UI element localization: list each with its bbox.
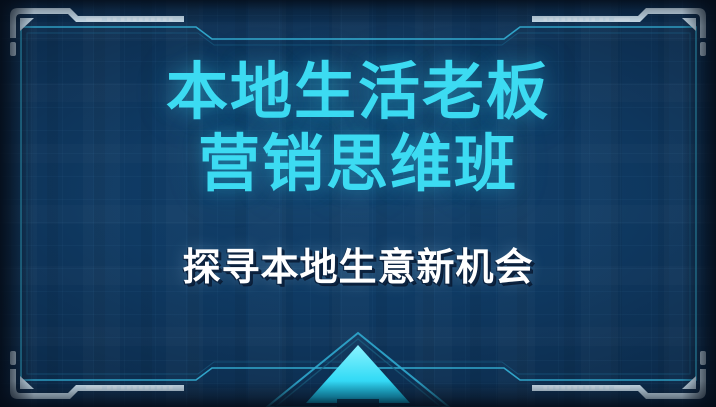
subtitle: 探寻本地生意新机会 [182, 244, 533, 290]
corner-bracket-top-left [8, 4, 188, 66]
title-line-2: 营销思维班 [198, 128, 518, 200]
arrow-up-triangle-icon [263, 329, 453, 407]
corner-bracket-top-right [528, 4, 708, 66]
title-line-1: 本地生活老板 [166, 56, 550, 128]
corner-bracket-bottom-left [8, 341, 188, 403]
hud-frame [0, 0, 716, 407]
background-grid-texture [0, 0, 716, 407]
corner-bracket-bottom-right [528, 341, 708, 403]
edge-vignette [0, 0, 716, 407]
background-circuit-texture [0, 0, 716, 407]
content-stack: 本地生活老板 营销思维班 探寻本地生意新机会 [0, 0, 716, 407]
title-block: 本地生活老板 营销思维班 [166, 56, 550, 200]
poster-canvas: 本地生活老板 营销思维班 探寻本地生意新机会 [0, 0, 716, 407]
